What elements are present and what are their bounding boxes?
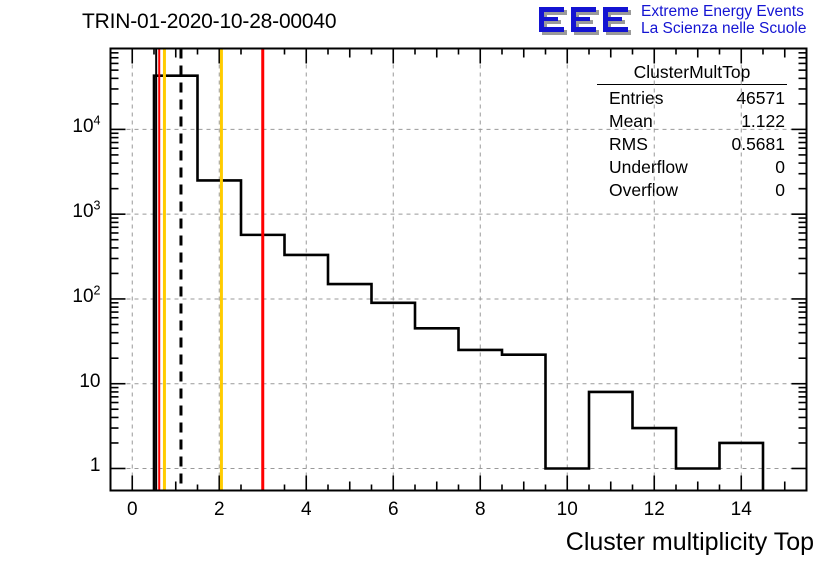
histogram-plot: [0, 0, 836, 572]
plot-frame: [111, 49, 807, 491]
grid-lines: [111, 49, 807, 491]
x-tick-label: 14: [711, 499, 771, 521]
axis-ticks: [111, 49, 807, 491]
x-tick-label: 12: [624, 499, 684, 521]
y-tick-label: 10: [3, 371, 101, 393]
y-tick-label: 1: [3, 455, 101, 477]
marker-lines: [156, 49, 263, 491]
x-tick-label: 6: [363, 499, 423, 521]
x-tick-label: 4: [276, 499, 336, 521]
x-tick-label: 0: [102, 499, 162, 521]
y-tick-label: 104: [3, 116, 101, 138]
x-axis-title: Cluster multiplicity Top: [566, 528, 814, 557]
x-tick-label: 8: [450, 499, 510, 521]
histogram-outline: [154, 76, 763, 491]
plot-canvas: TRIN-01-2020-10-28-00040: [0, 0, 836, 572]
y-tick-label: 103: [3, 201, 101, 223]
x-tick-label: 2: [189, 499, 249, 521]
y-tick-label: 102: [3, 286, 101, 308]
x-tick-label: 10: [537, 499, 597, 521]
